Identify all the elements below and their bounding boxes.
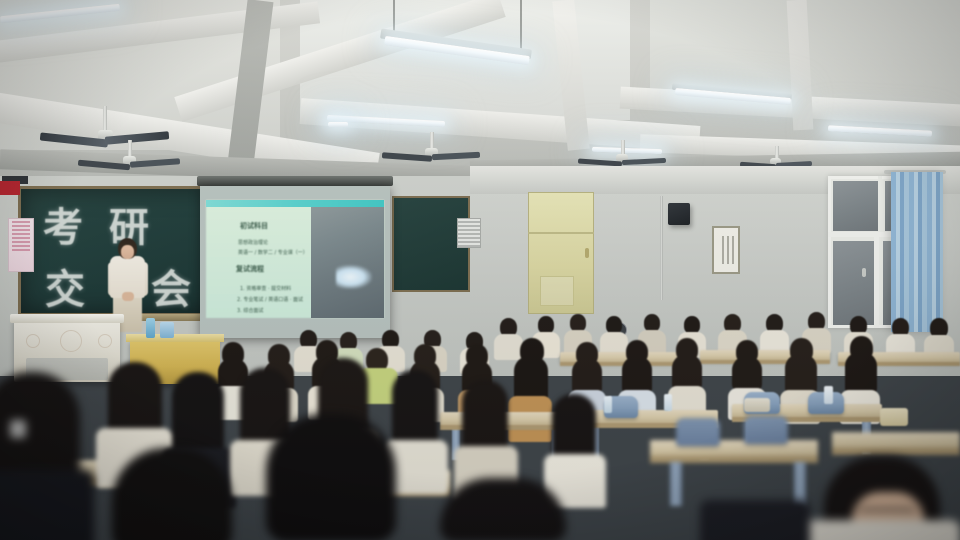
frame-text-column <box>727 236 729 264</box>
poster-line <box>12 225 30 227</box>
desk-support <box>670 462 682 506</box>
lectern-top <box>10 314 124 323</box>
poster-line <box>12 241 30 243</box>
slide-heading: 初试科目 <box>240 221 268 231</box>
student-hair <box>392 370 438 450</box>
frame-text-column <box>732 236 734 264</box>
wall-pipe <box>660 196 663 300</box>
student-hair <box>266 414 396 540</box>
window-pane <box>833 241 877 325</box>
door-panel <box>540 276 574 306</box>
poster-line <box>12 245 30 247</box>
window-mullion <box>878 176 882 232</box>
slide-bullet: 英语一 / 数学二 / 专业课（一） <box>238 249 308 256</box>
notice-poster <box>8 218 34 272</box>
ceiling-light <box>328 122 348 127</box>
water-bottle <box>604 396 612 413</box>
window-mullion <box>874 237 879 328</box>
poster-line <box>12 233 30 235</box>
bag-on-desk <box>744 398 770 412</box>
bag-on-desk <box>160 322 174 338</box>
bag-on-desk <box>880 408 908 426</box>
shirt-logo <box>10 420 26 438</box>
student-body <box>700 500 810 540</box>
poster-line <box>12 249 30 251</box>
student-body <box>800 520 960 540</box>
wall-vent <box>457 218 481 248</box>
frame-text-column <box>722 236 724 264</box>
lectern-emblem <box>98 334 112 348</box>
door-divider <box>528 232 594 234</box>
folding-seat[interactable] <box>676 418 720 446</box>
front-side-desk-top <box>126 334 224 342</box>
water-bottle <box>824 386 833 404</box>
door-handle[interactable] <box>585 248 589 258</box>
slide-bullet: 思想政治理论 <box>238 239 268 246</box>
slide-photo-highlight <box>336 265 372 289</box>
water-bottle <box>146 318 155 338</box>
chalk-text-top: 考研 <box>43 195 175 253</box>
poster-line <box>12 237 30 239</box>
slide-bullet-2: 2. 专业笔试 / 英语口语 · 面试 <box>237 296 303 303</box>
folding-seat[interactable] <box>744 416 788 444</box>
slide-bullet-2: 1. 资格审查 · 提交材料 <box>240 285 291 292</box>
chalk-text-bottom-left: 交 <box>45 257 85 315</box>
slide-heading-2: 复试流程 <box>236 264 264 274</box>
classroom-photo: 考研 交 会 初试科目 思想政治理论 英语一 / 数学二 / 专业课（一） 复试… <box>0 0 960 540</box>
slide-bullet-2: 3. 综合面试 <box>237 307 263 314</box>
student-body <box>494 334 523 360</box>
wall-speaker <box>668 203 690 225</box>
chalk-text-bottom-right: 会 <box>151 257 191 315</box>
poster-line <box>12 229 30 231</box>
presenter-hands <box>122 292 134 301</box>
slide-header-bar <box>206 200 384 207</box>
slide-photo <box>311 207 384 318</box>
water-bottle <box>664 394 672 411</box>
poster-line <box>12 221 30 223</box>
window-curtain[interactable] <box>891 172 943 332</box>
red-wall-box <box>0 181 20 195</box>
presenter-face <box>121 245 134 259</box>
window-pane <box>833 181 879 231</box>
lectern-emblem <box>60 330 82 352</box>
student-hair <box>732 356 762 392</box>
framed-notice <box>712 226 740 274</box>
lectern-emblem <box>26 334 40 348</box>
window-latch[interactable] <box>862 268 866 277</box>
fan-rod <box>103 106 107 132</box>
desk-edge <box>832 448 960 455</box>
screen-roller-case <box>197 176 393 186</box>
student-body <box>0 470 94 540</box>
student-hair <box>112 448 232 540</box>
